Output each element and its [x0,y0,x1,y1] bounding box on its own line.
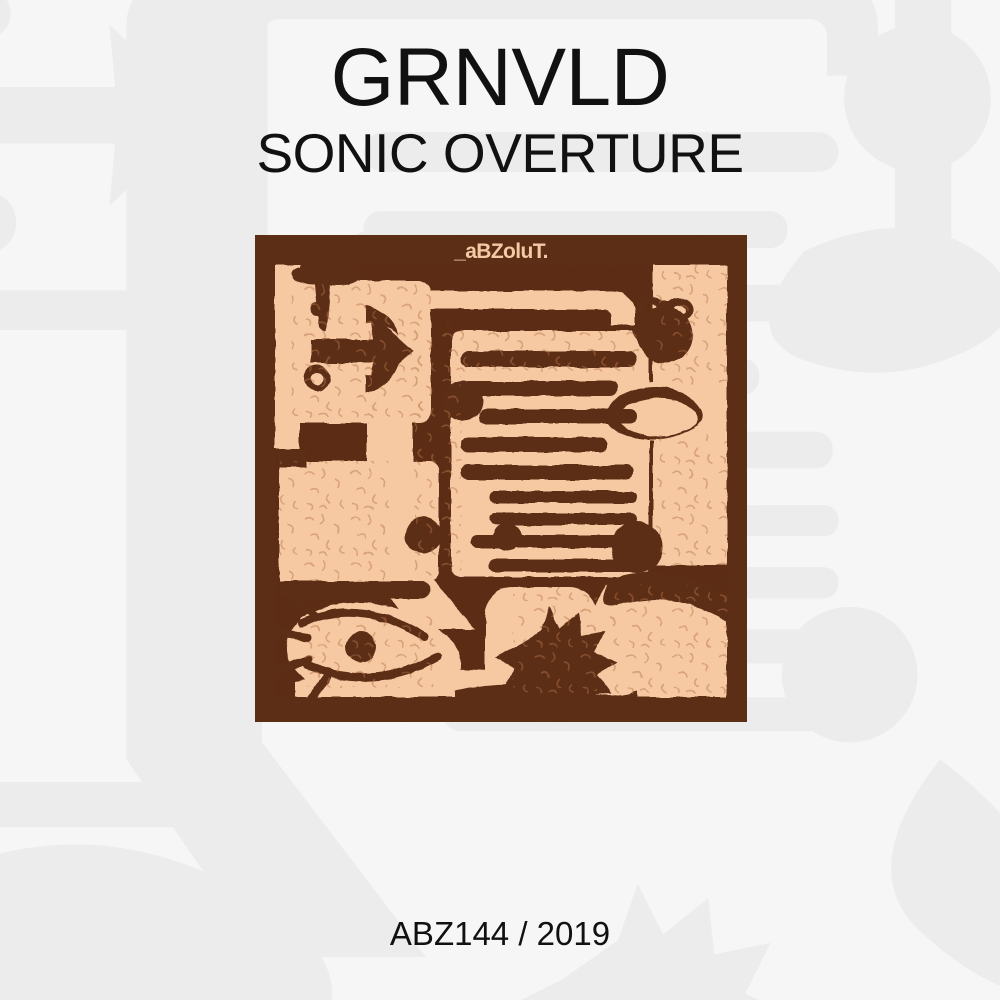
album-artwork: _aBZoluT. [255,235,747,722]
artist-name: GRNVLD [0,38,1000,118]
cover-title-block: GRNVLD SONIC OVERTURE [0,38,1000,184]
release-title: SONIC OVERTURE [0,124,1000,183]
catalog-block: ABZ144 / 2019 [0,915,1000,953]
album-artwork-graphic [255,235,747,722]
catalog-number: ABZ144 / 2019 [390,915,610,952]
